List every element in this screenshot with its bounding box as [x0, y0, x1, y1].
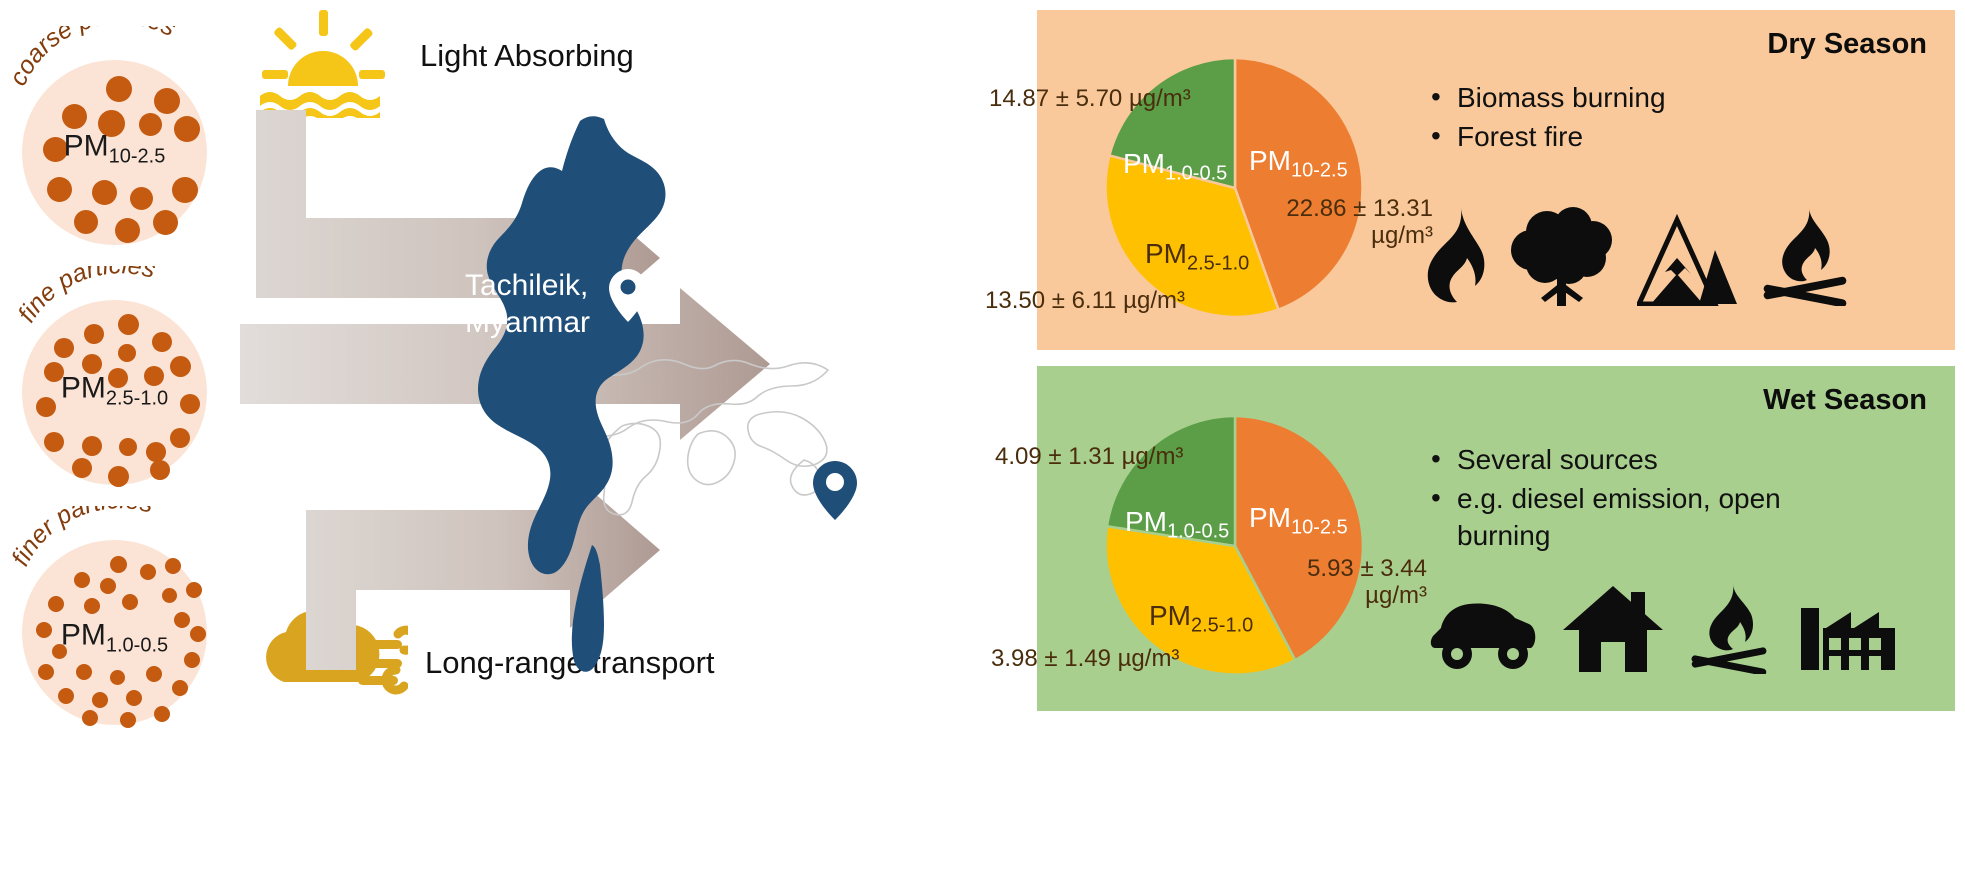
particle-dot — [82, 436, 102, 456]
particle-dot — [150, 460, 170, 480]
house-icon — [1561, 582, 1665, 674]
dry-season-title: Dry Season — [1767, 28, 1927, 61]
light-absorbing-label: Light Absorbing — [420, 38, 634, 74]
dry-season-panel: Dry Season PM10-2.5 PM2.5-1.0 PM1.0-0.5 … — [1037, 10, 1955, 350]
particle-dot — [170, 428, 190, 448]
particle-dot — [184, 652, 200, 668]
particle-dot — [44, 432, 64, 452]
particle-dot — [118, 314, 139, 335]
mountains-icon — [1637, 206, 1739, 306]
particle-dot — [140, 564, 156, 580]
particle-dot — [76, 664, 92, 680]
particle-dot — [84, 598, 100, 614]
particle-dot — [174, 116, 200, 142]
myanmar-map-shape — [440, 115, 720, 675]
particle-dot — [62, 104, 87, 129]
wet-bullet-1: Several sources — [1457, 442, 1857, 479]
car-icon — [1429, 592, 1539, 674]
particle-dot — [54, 338, 74, 358]
particle-dot — [146, 442, 166, 462]
particle-dot — [72, 458, 92, 478]
wet-season-title: Wet Season — [1763, 384, 1927, 417]
particle-dot — [174, 612, 190, 628]
particle-dot — [38, 664, 54, 680]
world-map-pin-icon — [812, 460, 858, 522]
finer-particle-label: PM1.0-0.5 — [61, 619, 168, 658]
fine-particle-disc: PM2.5-1.0 — [22, 300, 207, 485]
tree-icon — [1507, 206, 1619, 306]
coarse-particle-label: PM10-2.5 — [64, 129, 166, 168]
wet-pie-label-pm10: PM10-2.5 — [1249, 502, 1348, 540]
particle-dot — [153, 210, 178, 235]
particle-dot — [122, 594, 138, 610]
particle-dot — [118, 344, 136, 362]
particle-dot — [108, 466, 129, 487]
particle-dot — [110, 670, 125, 685]
particle-dot — [165, 558, 181, 574]
location-line-1: Tachileik, — [465, 268, 590, 305]
dry-pie-label-pm1: PM1.0-0.5 — [1123, 148, 1227, 186]
particle-dot — [74, 572, 90, 588]
dry-bullet-2: Forest fire — [1457, 119, 1666, 156]
wet-pie-label-pm25: PM2.5-1.0 — [1149, 600, 1253, 638]
wet-value-pm10: 5.93 ± 3.44 µg/m³ — [1247, 556, 1427, 610]
particle-dot — [180, 394, 200, 414]
tachileik-map-pin-icon — [608, 268, 648, 324]
wet-pie-label-pm1: PM1.0-0.5 — [1125, 506, 1229, 544]
particle-dot — [130, 187, 153, 210]
particle-dot — [190, 626, 206, 642]
particle-dot — [172, 680, 188, 696]
dry-season-bullets: Biomass burning Forest fire — [1427, 80, 1666, 158]
particle-dot — [82, 710, 98, 726]
particle-dot — [146, 666, 162, 682]
particle-dot — [119, 438, 137, 456]
wet-value-pm1: 4.09 ± 1.31 µg/m³ — [995, 444, 1183, 471]
dry-value-pm25: 13.50 ± 6.11 µg/m³ — [985, 288, 1185, 315]
particle-group-fine: fine particles PM2.5-1.0 — [10, 300, 225, 485]
particle-group-coarse: coarse particles PM10-2.5 — [10, 60, 225, 245]
tachileik-location-label: Tachileik, Myanmar — [465, 268, 590, 341]
particle-dot — [162, 588, 177, 603]
campfire-icon — [1757, 206, 1853, 306]
particle-dot — [120, 712, 136, 728]
wet-value-pm25: 3.98 ± 1.49 µg/m³ — [991, 646, 1179, 673]
wet-bullet-2: e.g. diesel emission, open burning — [1457, 481, 1857, 555]
wet-season-icon-row — [1429, 582, 1899, 674]
particle-dot — [186, 582, 202, 598]
location-line-2: Myanmar — [465, 305, 590, 342]
dry-season-icon-row — [1419, 206, 1853, 306]
particle-dot — [58, 688, 74, 704]
dry-value-pm1: 14.87 ± 5.70 µg/m³ — [989, 86, 1191, 113]
particle-dot — [110, 556, 127, 573]
particle-dot — [100, 578, 116, 594]
particle-dot — [115, 218, 140, 243]
particle-dot — [152, 332, 172, 352]
fine-particle-label: PM2.5-1.0 — [61, 371, 168, 410]
particle-group-finer: finer particles PM1.0-0.5 — [10, 540, 225, 725]
dry-bullet-1: Biomass burning — [1457, 80, 1666, 117]
flame-icon — [1419, 206, 1489, 306]
campfire-icon — [1687, 582, 1771, 674]
particle-dot — [154, 706, 170, 722]
particle-dot — [48, 596, 64, 612]
particle-dot — [92, 180, 117, 205]
particle-dot — [126, 690, 142, 706]
particle-dot — [36, 622, 52, 638]
particle-dot — [106, 76, 132, 102]
wet-season-panel: Wet Season PM10-2.5 PM2.5-1.0 PM1.0-0.5 … — [1037, 366, 1955, 711]
particle-dot — [36, 397, 56, 417]
sun-over-water-icon — [258, 8, 388, 118]
particle-dot — [92, 692, 108, 708]
particle-dot — [84, 324, 104, 344]
particle-dot — [172, 177, 198, 203]
particle-dot — [170, 356, 191, 377]
dry-value-pm10: 22.86 ± 13.31 µg/m³ — [1233, 196, 1433, 250]
particle-dot — [74, 210, 98, 234]
wet-season-bullets: Several sources e.g. diesel emission, op… — [1427, 442, 1857, 557]
dry-pie-label-pm10: PM10-2.5 — [1249, 145, 1348, 183]
factory-icon — [1793, 582, 1899, 674]
particle-dot — [47, 177, 72, 202]
coarse-particle-disc: PM10-2.5 — [22, 60, 207, 245]
finer-particle-disc: PM1.0-0.5 — [22, 540, 207, 725]
particle-dot — [154, 88, 180, 114]
